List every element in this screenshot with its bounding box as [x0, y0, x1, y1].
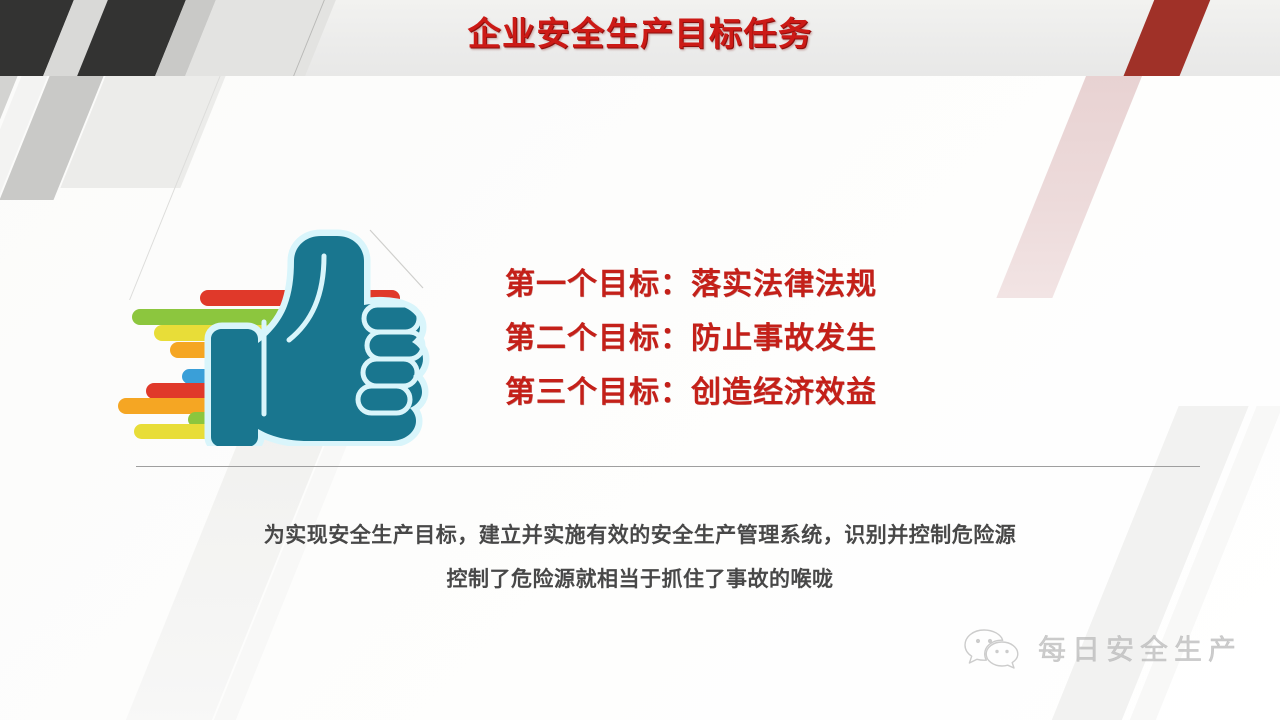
goal-item-2: 第二个目标：防止事故发生	[505, 312, 945, 366]
body-line-1: 为实现安全生产目标，建立并实施有效的安全生产管理系统，识别并控制危险源	[140, 514, 1140, 558]
decor-diagonal-pink	[996, 76, 1143, 298]
body-line-2: 控制了危险源就相当于抓住了事故的喉咙	[140, 558, 1140, 602]
body-paragraph: 为实现安全生产目标，建立并实施有效的安全生产管理系统，识别并控制危险源 控制了危…	[140, 514, 1140, 602]
slide-canvas: 企业安全生产目标任务	[0, 0, 1280, 720]
thumbs-up-icon	[118, 226, 458, 446]
decor-diagonal-grey-2	[0, 76, 50, 220]
decor-diagonal-grey-3	[0, 76, 106, 200]
hand-shape	[211, 236, 423, 446]
goals-list: 第一个目标：落实法律法规 第二个目标：防止事故发生 第三个目标：创造经济效益	[505, 258, 945, 420]
page-title: 企业安全生产目标任务	[0, 12, 1280, 56]
decor-diagonal-lower-right-2	[1123, 406, 1280, 720]
decor-diagonal-grey-1	[0, 76, 20, 220]
goal-item-3: 第三个目标：创造经济效益	[505, 366, 945, 420]
goal-item-1: 第一个目标：落实法律法规	[505, 258, 945, 312]
watermark: 每日安全生产	[964, 626, 1242, 670]
watermark-text: 每日安全生产	[1038, 628, 1242, 668]
wechat-icon	[964, 626, 1024, 670]
decor-diagonal-grey-4	[60, 76, 228, 188]
section-divider	[136, 466, 1200, 467]
